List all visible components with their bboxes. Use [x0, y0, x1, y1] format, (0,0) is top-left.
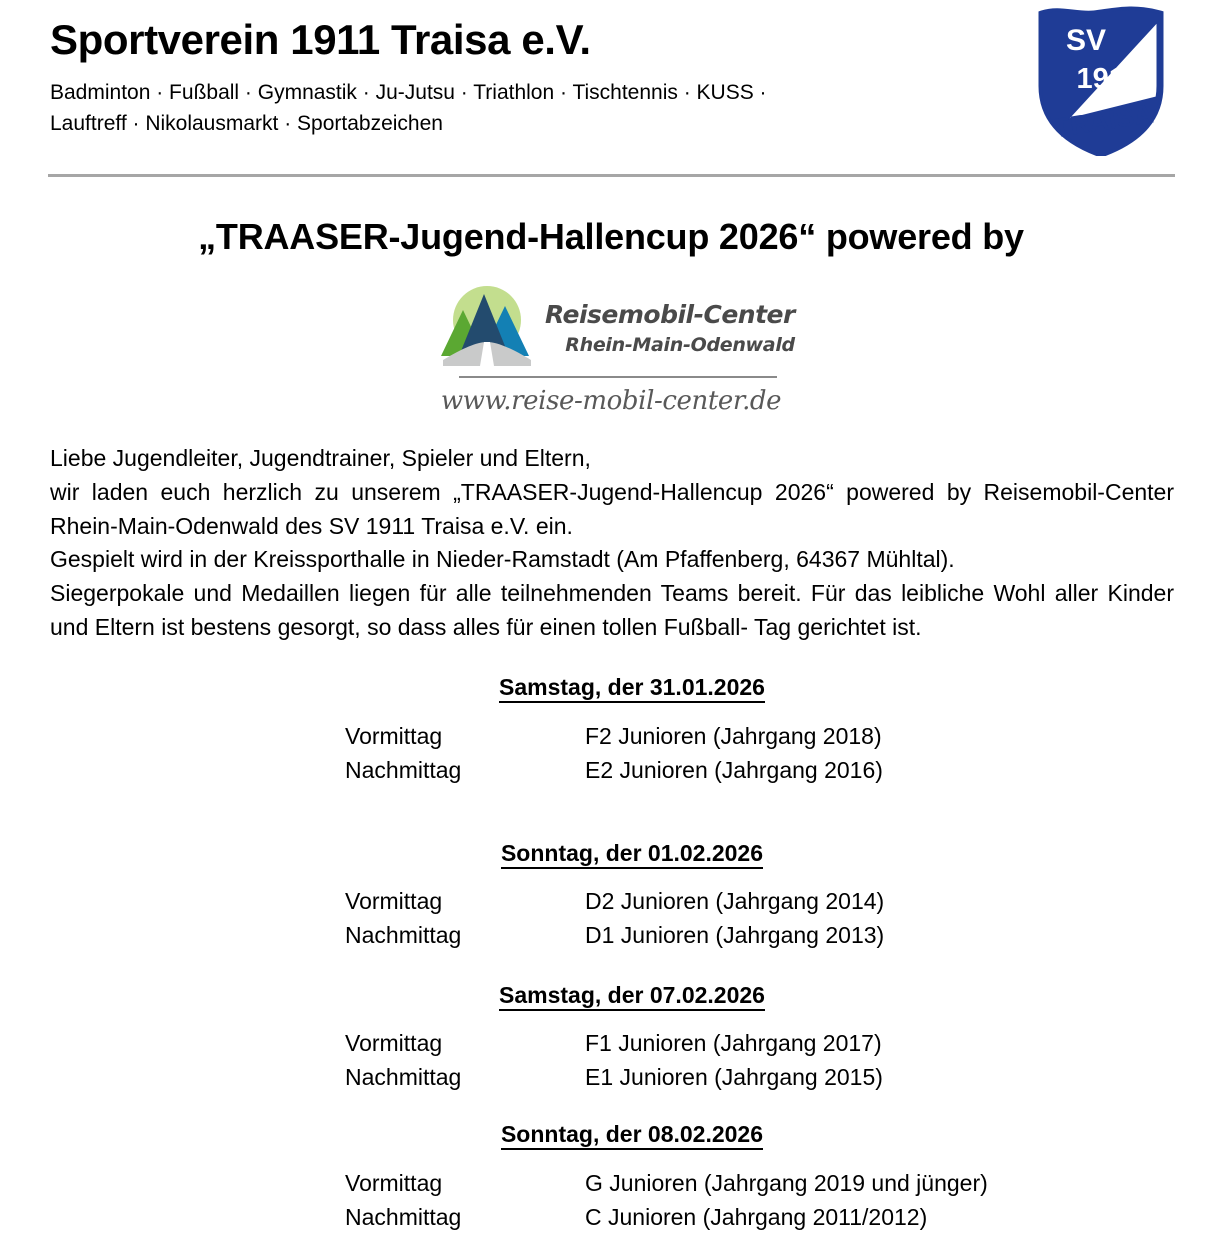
event-title: „TRAASER-Jugend-Hallencup 2026“ powered …	[0, 216, 1222, 258]
schedule-spacer	[50, 787, 1174, 837]
logo-text-sv: SV	[1066, 24, 1106, 57]
schedule-date-text: Sonntag, der 01.02.2026	[501, 840, 763, 869]
sponsor-url: www.reise-mobil-center.de	[437, 386, 785, 416]
schedule-period: Nachmittag	[50, 1200, 585, 1234]
document-page: Sportverein 1911 Traisa e.V. Badminton ·…	[0, 0, 1222, 1224]
schedule-team: E1 Junioren (Jahrgang 2015)	[585, 1060, 883, 1094]
schedule-team: D1 Junioren (Jahrgang 2013)	[585, 918, 884, 952]
schedule-row: Nachmittag C Junioren (Jahrgang 2011/201…	[50, 1200, 1174, 1234]
schedule-team: G Junioren (Jahrgang 2019 und jünger)	[585, 1166, 988, 1200]
schedule-block: Samstag, der 31.01.2026 Vormittag F2 Jun…	[50, 671, 1174, 787]
schedule-date-heading: Samstag, der 07.02.2026	[50, 979, 1174, 1013]
invitation-paragraph: wir laden euch herzlich zu unserem „TRAA…	[50, 476, 1174, 544]
schedule-period: Nachmittag	[50, 1060, 585, 1094]
schedule-spacer	[50, 1094, 1174, 1118]
schedule-team: D2 Junioren (Jahrgang 2014)	[585, 884, 884, 918]
schedule-period: Nachmittag	[50, 918, 585, 952]
schedule-period: Vormittag	[50, 1026, 585, 1060]
schedule-date-text: Samstag, der 31.01.2026	[499, 674, 765, 703]
schedule-period: Vormittag	[50, 719, 585, 753]
divisions-line-2: Lauftreff · Nikolausmarkt · Sportabzeich…	[50, 112, 443, 135]
schedule: Samstag, der 31.01.2026 Vormittag F2 Jun…	[50, 671, 1174, 1234]
schedule-block: Sonntag, der 08.02.2026 Vormittag G Juni…	[50, 1118, 1174, 1234]
page-title: Sportverein 1911 Traisa e.V.	[50, 18, 1174, 62]
schedule-date-text: Sonntag, der 08.02.2026	[501, 1121, 763, 1150]
mountain-icon	[437, 280, 537, 372]
prizes-paragraph: Siegerpokale und Medaillen liegen für al…	[50, 577, 1174, 645]
schedule-team: F2 Junioren (Jahrgang 2018)	[585, 719, 882, 753]
schedule-spacer	[50, 953, 1174, 979]
sponsor-region: Rhein-Main-Odenwald	[545, 334, 795, 356]
sponsor-logo-top: Reisemobil-Center Rhein-Main-Odenwald	[437, 280, 785, 372]
document-header: Sportverein 1911 Traisa e.V. Badminton ·…	[0, 0, 1222, 160]
schedule-team: C Junioren (Jahrgang 2011/2012)	[585, 1200, 927, 1234]
schedule-row: Vormittag F1 Junioren (Jahrgang 2017)	[50, 1026, 1174, 1060]
schedule-row: Nachmittag D1 Junioren (Jahrgang 2013)	[50, 918, 1174, 952]
logo-text-year: 1911	[1077, 63, 1140, 95]
schedule-row: Vormittag G Junioren (Jahrgang 2019 und …	[50, 1166, 1174, 1200]
sponsor-rule	[459, 376, 777, 378]
schedule-block: Samstag, der 07.02.2026 Vormittag F1 Jun…	[50, 979, 1174, 1095]
schedule-block: Sonntag, der 01.02.2026 Vormittag D2 Jun…	[50, 837, 1174, 953]
divisions-line-1: Badminton · Fußball · Gymnastik · Ju-Jut…	[50, 81, 767, 104]
schedule-team: E2 Junioren (Jahrgang 2016)	[585, 753, 883, 787]
schedule-period: Nachmittag	[50, 753, 585, 787]
greeting-line: Liebe Jugendleiter, Jugendtrainer, Spiel…	[50, 442, 1174, 476]
venue-line: Gespielt wird in der Kreissporthalle in …	[50, 543, 1174, 577]
schedule-rows: Vormittag D2 Junioren (Jahrgang 2014) Na…	[50, 884, 1174, 952]
schedule-row: Vormittag F2 Junioren (Jahrgang 2018)	[50, 719, 1174, 753]
club-shield-logo: SV 1911 TRAISA	[1036, 6, 1172, 156]
schedule-team: F1 Junioren (Jahrgang 2017)	[585, 1026, 882, 1060]
schedule-period: Vormittag	[50, 1166, 585, 1200]
schedule-row: Nachmittag E1 Junioren (Jahrgang 2015)	[50, 1060, 1174, 1094]
schedule-rows: Vormittag F1 Junioren (Jahrgang 2017) Na…	[50, 1026, 1174, 1094]
body-text: Liebe Jugendleiter, Jugendtrainer, Spiel…	[50, 442, 1174, 1234]
schedule-period: Vormittag	[50, 884, 585, 918]
schedule-date-heading: Samstag, der 31.01.2026	[50, 671, 1174, 705]
schedule-row: Nachmittag E2 Junioren (Jahrgang 2016)	[50, 753, 1174, 787]
header-divider	[48, 174, 1175, 177]
sponsor-logo: Reisemobil-Center Rhein-Main-Odenwald ww…	[437, 280, 785, 416]
sponsor-wordmark: Reisemobil-Center Rhein-Main-Odenwald	[545, 296, 795, 356]
schedule-date-heading: Sonntag, der 01.02.2026	[50, 837, 1174, 871]
club-divisions-list: Badminton · Fußball · Gymnastik · Ju-Jut…	[50, 78, 950, 139]
sponsor-name: Reisemobil-Center	[545, 302, 795, 328]
schedule-date-text: Samstag, der 07.02.2026	[499, 982, 765, 1011]
schedule-date-heading: Sonntag, der 08.02.2026	[50, 1118, 1174, 1152]
schedule-rows: Vormittag F2 Junioren (Jahrgang 2018) Na…	[50, 719, 1174, 787]
schedule-row: Vormittag D2 Junioren (Jahrgang 2014)	[50, 884, 1174, 918]
